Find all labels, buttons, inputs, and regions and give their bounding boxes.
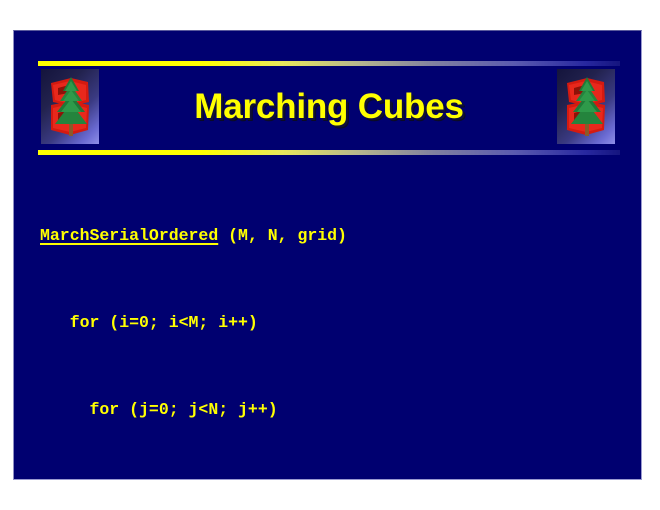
- slide-canvas: Marching Cubes: [0, 0, 660, 510]
- stanford-logo-left-icon: [41, 69, 99, 144]
- stanford-block-s-tree-icon: [41, 69, 99, 144]
- code-listing: MarchSerialOrdered (M, N, grid) for (i=0…: [40, 163, 620, 480]
- code-line-signature: MarchSerialOrdered (M, N, grid): [40, 221, 620, 250]
- function-parameters: (M, N, grid): [218, 226, 347, 245]
- page-title: Marching Cubes: [114, 77, 544, 137]
- code-line-inner-for: for (j=0; j<N; j++): [40, 395, 620, 424]
- stanford-logo-right-icon: [557, 69, 615, 144]
- presentation-slide: Marching Cubes: [13, 30, 642, 480]
- title-divider-bottom: [38, 150, 620, 155]
- function-name: MarchSerialOrdered: [40, 226, 218, 245]
- title-divider-top: [38, 61, 620, 66]
- slide-title-block: Marching Cubes: [14, 31, 641, 156]
- stanford-block-s-tree-icon: [557, 69, 615, 144]
- code-line-outer-for: for (i=0; i<M; i++): [40, 308, 620, 337]
